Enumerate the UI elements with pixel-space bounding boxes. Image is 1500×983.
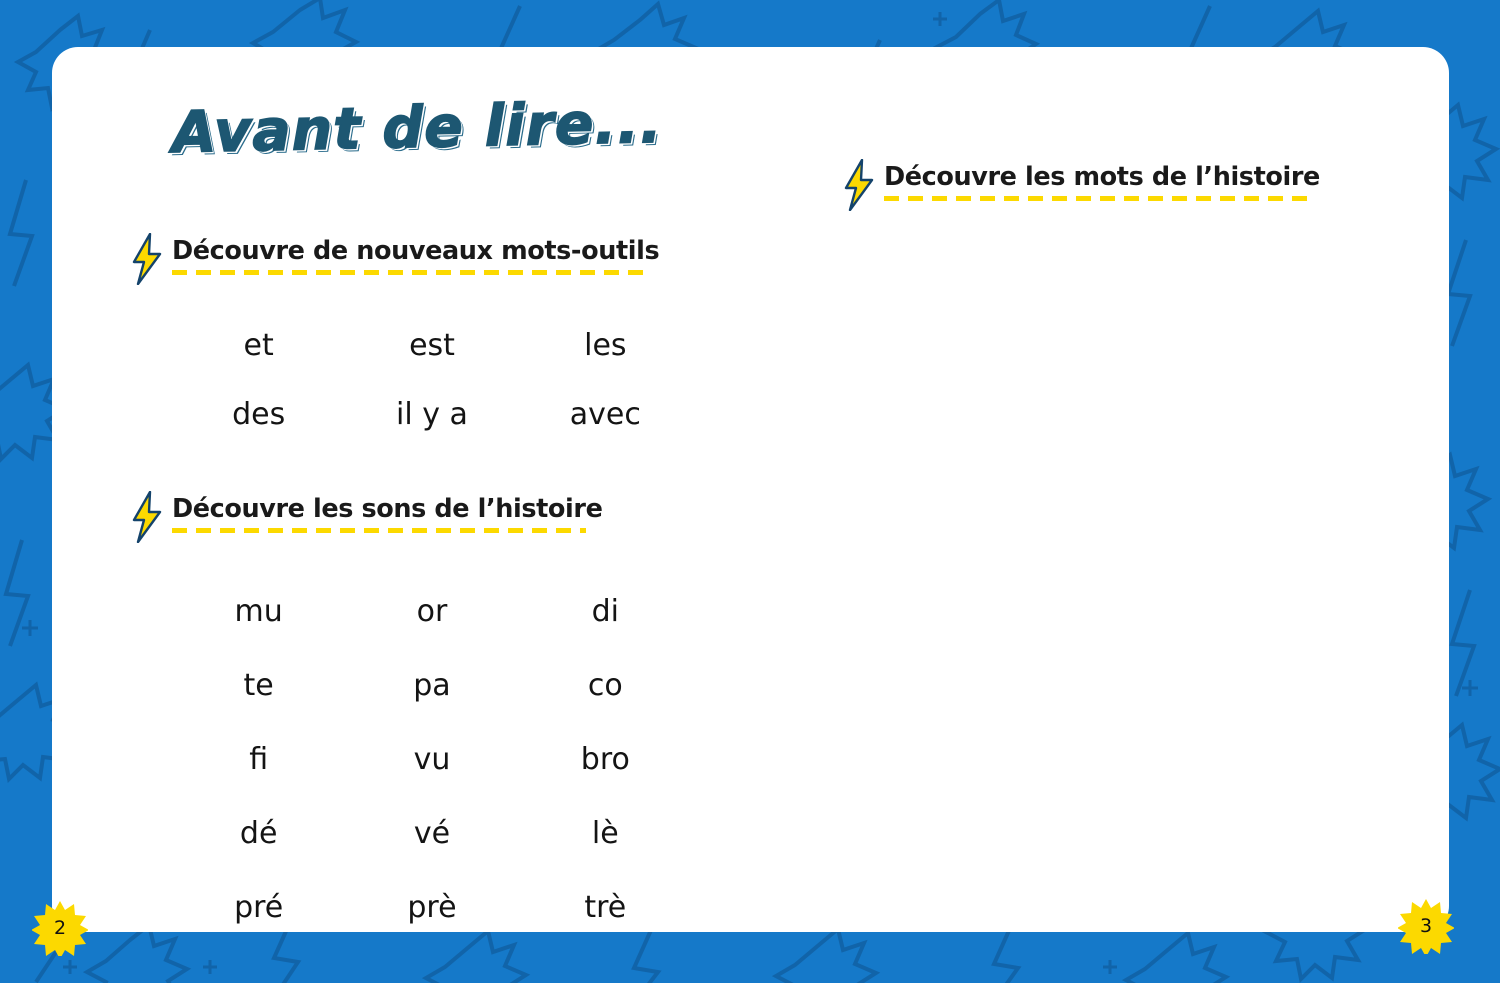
word-cell: te — [172, 669, 345, 702]
vocabulary-item: il se lève — [1492, 624, 1500, 820]
section-heading-mots-histoire: Découvre les mots de l’histoire — [842, 163, 1320, 211]
section-heading-mots-outils: Découvre de nouveaux mots-outils — [130, 237, 659, 285]
word-cell: des — [172, 398, 345, 431]
word-cell: dé — [172, 817, 345, 850]
word-cell: mu — [172, 595, 345, 628]
word-cell: pa — [345, 669, 518, 702]
word-cell: pré — [172, 891, 345, 924]
page-number-badge-left: 2 — [32, 900, 88, 956]
page-spread: Avant de lire... Découvre de nouveaux mo… — [52, 47, 1449, 932]
page-title: Avant de lire... — [171, 90, 663, 166]
right-page: Découvre les mots de l’histoire école l’… — [752, 47, 1449, 932]
word-cell: les — [519, 329, 692, 362]
section-heading-label: Découvre les mots de l’histoire — [884, 163, 1320, 192]
word-cell: avec — [519, 398, 692, 431]
word-cell: il y a — [345, 398, 518, 431]
section-heading-sons: Découvre les sons de l’histoire — [130, 495, 602, 543]
section-heading-label: Découvre les sons de l’histoire — [172, 495, 602, 524]
heading-underline — [884, 196, 1314, 201]
word-cell: est — [345, 329, 518, 362]
word-cell: bro — [519, 743, 692, 776]
left-page: Avant de lire... Découvre de nouveaux mo… — [52, 47, 752, 932]
page-number: 3 — [1420, 915, 1432, 937]
word-cell: di — [519, 595, 692, 628]
heading-underline — [172, 270, 650, 275]
word-cell: trè — [519, 891, 692, 924]
word-cell: et — [172, 329, 345, 362]
page-number-badge-right: 3 — [1398, 898, 1454, 954]
vocabulary-grid: école l’écol une bross le lit 80 des suc… — [1492, 232, 1500, 820]
lightning-bolt-icon — [130, 491, 164, 543]
word-cell: lè — [519, 817, 692, 850]
page-number: 2 — [54, 917, 66, 939]
word-cell: co — [519, 669, 692, 702]
vocabulary-item: école l’écol — [1492, 232, 1500, 428]
lightning-bolt-icon — [842, 159, 876, 211]
word-cell: prè — [345, 891, 518, 924]
vocabulary-item: 80 des sucreries — [1492, 428, 1500, 624]
word-cell: vu — [345, 743, 518, 776]
heading-underline — [172, 528, 586, 533]
word-cell: vé — [345, 817, 518, 850]
word-cell: fi — [172, 743, 345, 776]
lightning-bolt-icon — [130, 233, 164, 285]
mots-outils-grid: etestlesdesil y aavec — [172, 329, 692, 431]
sons-grid: muorditepacofivubrodévélèpréprètrè — [172, 595, 692, 924]
word-cell: or — [345, 595, 518, 628]
section-heading-label: Découvre de nouveaux mots-outils — [172, 237, 659, 266]
